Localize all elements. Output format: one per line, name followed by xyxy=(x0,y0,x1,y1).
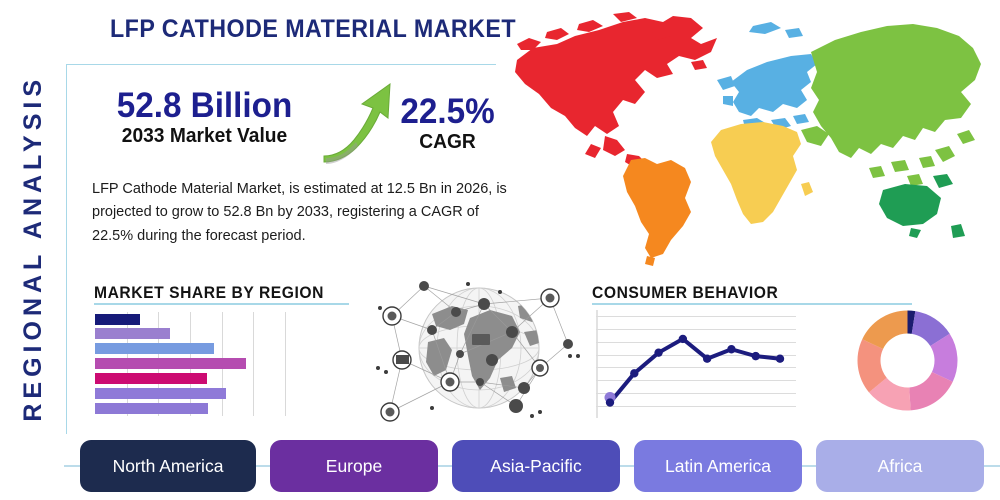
bar-chart-bar xyxy=(95,388,226,399)
regional-analysis-side-label: REGIONAL ANALYSIS xyxy=(10,48,56,448)
bar-chart-bars xyxy=(95,312,285,416)
map-region-north-america xyxy=(515,12,717,168)
primary-stat: 52.8 Billion 2033 Market Value xyxy=(92,88,317,148)
map-region-asia xyxy=(801,24,981,186)
consumer-behavior-rule xyxy=(592,303,912,305)
line-chart-marker xyxy=(654,348,662,356)
primary-stat-value: 52.8 Billion xyxy=(98,88,312,125)
line-chart-marker xyxy=(606,398,614,406)
bar-chart-bar xyxy=(95,314,140,325)
region-rail-left xyxy=(64,465,80,467)
secondary-stat-label: CAGR xyxy=(392,131,502,154)
bar-chart-bar xyxy=(95,358,246,369)
region-connector xyxy=(802,465,816,467)
region-button-north-america[interactable]: North America xyxy=(80,440,256,492)
market-share-rule xyxy=(94,303,349,305)
map-region-south-america xyxy=(623,158,691,266)
map-region-europe xyxy=(717,22,817,130)
line-chart-marker xyxy=(703,355,711,363)
consumer-behavior-heading: CONSUMER BEHAVIOR xyxy=(592,283,778,303)
growth-arrow-icon xyxy=(318,82,398,164)
market-share-heading: MARKET SHARE BY REGION xyxy=(94,283,324,303)
line-chart-marker xyxy=(630,369,638,377)
region-button-latin-america[interactable]: Latin America xyxy=(634,440,802,492)
region-connector xyxy=(620,465,634,467)
map-region-africa xyxy=(711,122,813,224)
side-label-text: REGIONAL ANALYSIS xyxy=(19,75,48,422)
consumer-behavior-line-chart xyxy=(596,310,796,418)
bar-chart-bar xyxy=(95,343,214,354)
region-buttons-bar: North AmericaEuropeAsia-PacificLatin Ame… xyxy=(80,440,990,492)
region-connector xyxy=(256,465,270,467)
region-connector xyxy=(438,465,452,467)
line-chart-marker xyxy=(752,352,760,360)
region-rail-right xyxy=(984,465,1000,467)
line-chart-marker xyxy=(679,335,687,343)
region-button-asia-pacific[interactable]: Asia-Pacific xyxy=(452,440,620,492)
region-button-africa[interactable]: Africa xyxy=(816,440,984,492)
region-button-europe[interactable]: Europe xyxy=(270,440,438,492)
key-stats-row: 52.8 Billion 2033 Market Value 22.5% CAG… xyxy=(90,88,510,168)
line-chart-marker xyxy=(776,355,784,363)
line-chart-marker xyxy=(727,345,735,353)
bar-chart-bar xyxy=(95,403,208,414)
bar-chart-bar xyxy=(95,328,170,339)
donut-chart xyxy=(855,308,960,416)
bar-gridline xyxy=(285,312,286,416)
market-share-bar-chart xyxy=(95,312,285,416)
secondary-stat-value: 22.5% xyxy=(393,94,502,131)
page-title: LFP CATHODE MATERIAL MARKET xyxy=(110,15,516,44)
market-description: LFP Cathode Material Market, is estimate… xyxy=(92,178,517,248)
global-network-icon xyxy=(372,272,587,427)
line-chart-series xyxy=(596,310,796,418)
secondary-stat: 22.5% CAGR xyxy=(390,94,505,154)
world-map xyxy=(495,8,995,273)
bar-chart-bar xyxy=(95,373,207,384)
primary-stat-label: 2033 Market Value xyxy=(97,125,313,148)
